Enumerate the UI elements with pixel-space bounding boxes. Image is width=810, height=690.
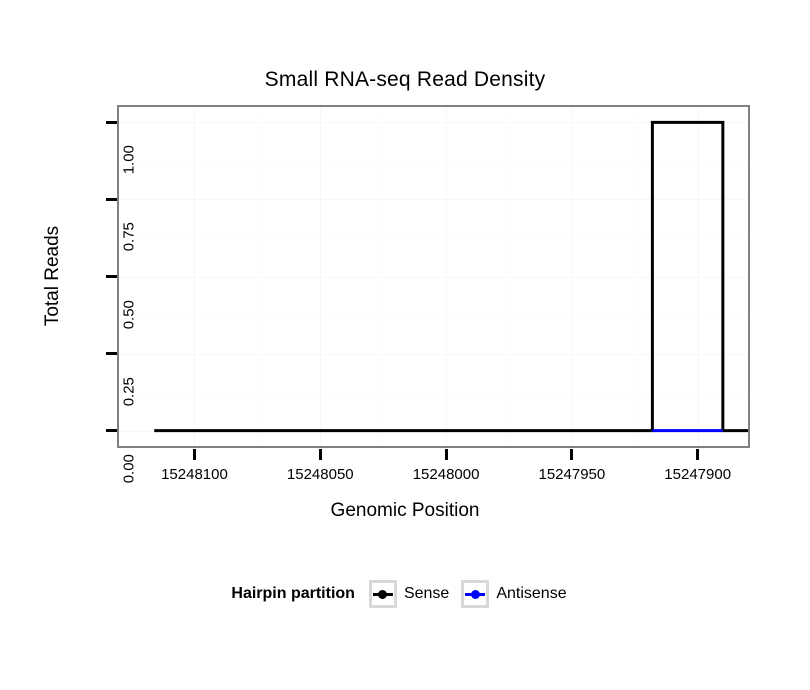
legend-entry-sense[interactable]: Sense xyxy=(369,580,449,608)
x-axis-tick-label: 15247950 xyxy=(539,466,606,483)
legend: Hairpin partition SenseAntisense xyxy=(0,580,810,608)
y-axis-title: Total Reads xyxy=(42,226,64,326)
legend-key-icon xyxy=(369,580,397,608)
y-axis-tick xyxy=(106,121,117,124)
legend-key-icon xyxy=(461,580,489,608)
legend-key-point xyxy=(471,590,480,599)
legend-title: Hairpin partition xyxy=(231,585,355,603)
legend-entry-label: Antisense xyxy=(496,585,566,603)
y-axis-tick xyxy=(106,429,117,432)
y-axis-tick-label: 0.25 xyxy=(121,377,138,406)
legend-entry-label: Sense xyxy=(404,585,449,603)
y-axis-tick xyxy=(106,198,117,201)
legend-key-point xyxy=(378,590,387,599)
x-axis-tick-label: 15247900 xyxy=(664,466,731,483)
y-axis-tick-label: 1.00 xyxy=(121,146,138,175)
y-axis-tick-label: 0.50 xyxy=(121,300,138,329)
y-axis-tick xyxy=(106,352,117,355)
x-axis-tick xyxy=(696,449,699,460)
data-line-sense xyxy=(154,122,748,430)
legend-entries: SenseAntisense xyxy=(369,580,579,608)
data-series-layer xyxy=(119,107,748,446)
x-axis-tick-label: 15248050 xyxy=(287,466,354,483)
y-axis-tick-label: 0.00 xyxy=(121,454,138,483)
page-title: Small RNA-seq Read Density xyxy=(0,68,810,92)
y-axis-tick xyxy=(106,275,117,278)
x-axis-tick xyxy=(445,449,448,460)
y-axis-tick-label: 0.75 xyxy=(121,223,138,252)
x-axis-tick-label: 15248100 xyxy=(161,466,228,483)
plot-inner xyxy=(119,107,748,446)
legend-entry-antisense[interactable]: Antisense xyxy=(461,580,566,608)
plot-panel xyxy=(117,105,750,448)
x-axis-title: Genomic Position xyxy=(0,500,810,522)
x-axis-tick xyxy=(319,449,322,460)
x-axis-tick xyxy=(570,449,573,460)
x-axis-tick-label: 15248000 xyxy=(413,466,480,483)
x-axis-tick xyxy=(193,449,196,460)
